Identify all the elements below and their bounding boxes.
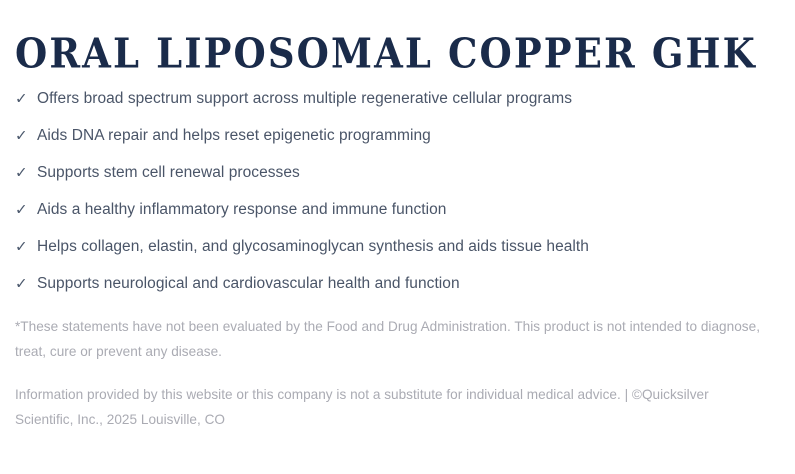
list-item: ✓ Offers broad spectrum support across m… <box>0 80 795 117</box>
benefit-text: Supports neurological and cardiovascular… <box>37 274 460 294</box>
benefit-text: Helps collagen, elastin, and glycosamino… <box>37 237 589 257</box>
list-item: ✓ Aids a healthy inflammatory response a… <box>0 191 795 228</box>
check-icon: ✓ <box>15 165 28 180</box>
list-item: ✓ Aids DNA repair and helps reset epigen… <box>0 117 795 154</box>
list-item: ✓ Supports stem cell renewal processes <box>0 154 795 191</box>
check-icon: ✓ <box>15 276 28 291</box>
check-icon: ✓ <box>15 91 28 106</box>
fda-disclaimer: *These statements have not been evaluate… <box>15 314 790 364</box>
benefit-text: Aids DNA repair and helps reset epigenet… <box>37 126 431 146</box>
check-icon: ✓ <box>15 239 28 254</box>
medical-advice-notice: Information provided by this website or … <box>15 382 740 432</box>
benefit-text: Aids a healthy inflammatory response and… <box>37 200 446 220</box>
check-icon: ✓ <box>15 128 28 143</box>
benefit-text: Offers broad spectrum support across mul… <box>37 89 572 109</box>
check-icon: ✓ <box>15 202 28 217</box>
benefit-text: Supports stem cell renewal processes <box>37 163 300 183</box>
page-title: ORAL LIPOSOMAL COPPER GHK <box>15 27 757 79</box>
benefit-list: ✓ Offers broad spectrum support across m… <box>0 80 795 302</box>
list-item: ✓ Helps collagen, elastin, and glycosami… <box>0 228 795 265</box>
product-info-panel: ORAL LIPOSOMAL COPPER GHK ✓ Offers broad… <box>0 0 795 474</box>
list-item: ✓ Supports neurological and cardiovascul… <box>0 265 795 302</box>
